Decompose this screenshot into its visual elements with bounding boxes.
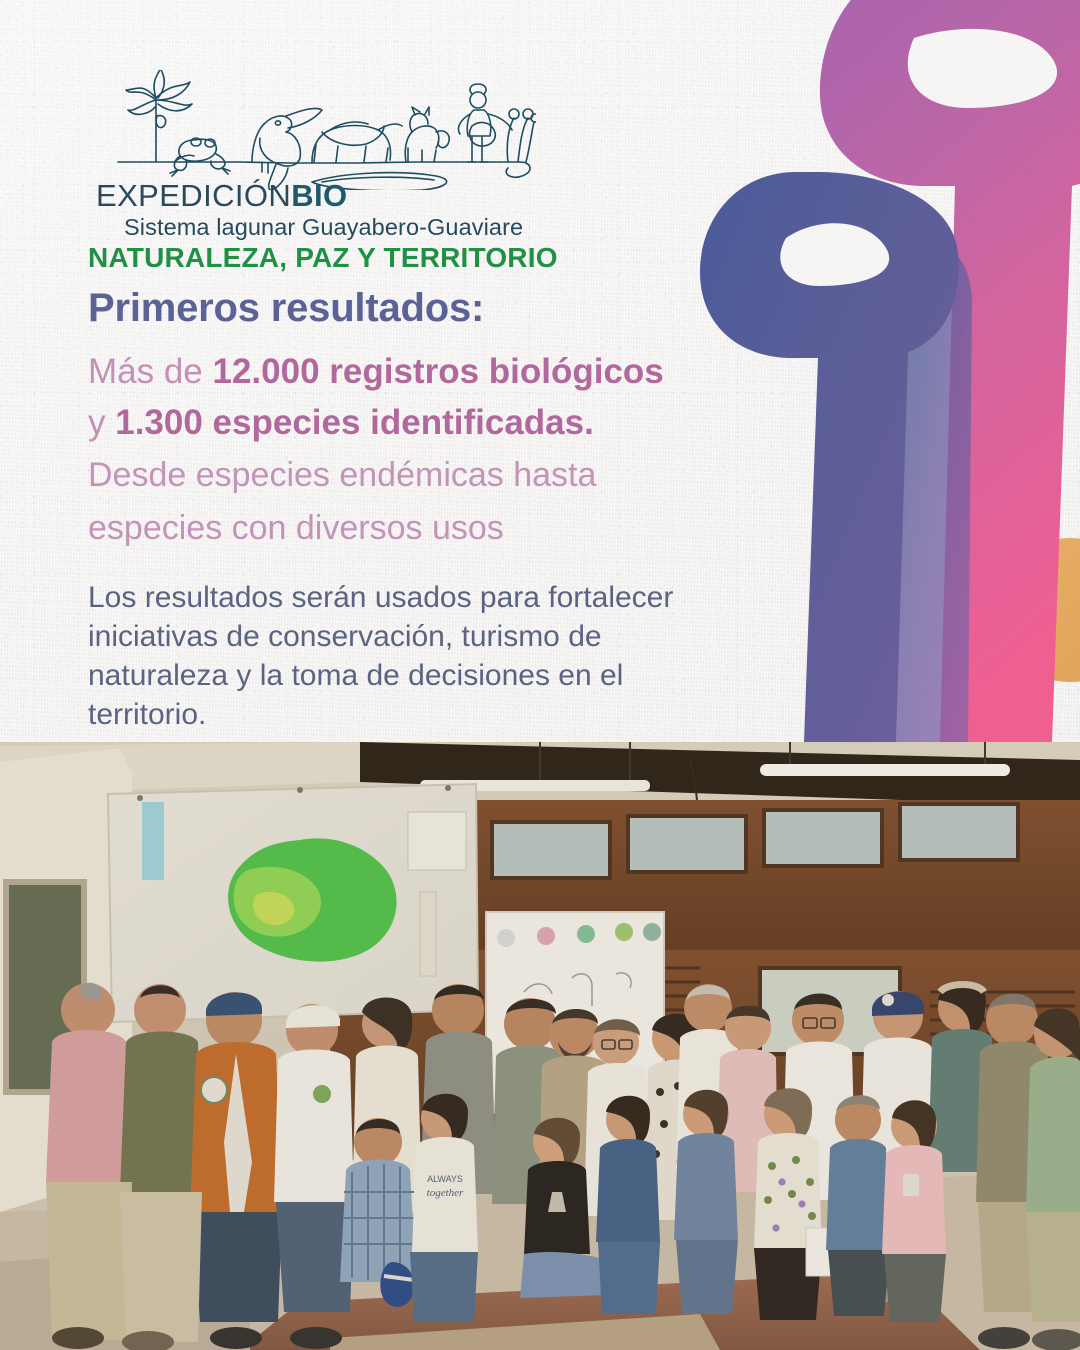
stat-1-prefix: Más de [88,352,213,391]
logo-word-bio: BIO [291,178,347,213]
headline: Primeros resultados: [88,286,708,331]
logo-tagline: NATURALEZA, PAZ Y TERRITORIO [88,242,558,274]
logo-wordmark: EXPEDICIÓNBIO [96,178,348,214]
stat-2-prefix: y [88,403,115,442]
group-photo-illustration: ALWAYS together [0,742,1080,1350]
logo-word-expedicion: EXPEDICIÓN [96,178,291,213]
decorative-abstract-shapes [700,0,1080,742]
expedicionbio-logo: EXPEDICIÓNBIO Sistema lagunar Guayabero-… [88,70,608,190]
stat-line-3: Desde especies endémicas hasta [88,450,708,501]
logo-line-illustration [116,70,536,190]
stat-2-value: 1.300 especies identificadas. [115,403,594,442]
logo-subtitle: Sistema lagunar Guayabero-Guaviare [124,214,523,241]
stat-1-value: 12.000 registros biológicos [213,352,664,391]
stat-line-4: especies con diversos usos [88,503,708,554]
group-photo: ALWAYS together [0,742,1080,1350]
body-paragraph: Los resultados serán usados para fortale… [88,578,708,734]
stat-line-1: Más de 12.000 registros biológicos [88,347,708,398]
stat-line-2: y 1.300 especies identificadas. [88,398,708,449]
copy-block: Primeros resultados: Más de 12.000 regis… [88,286,708,734]
poster-root: EXPEDICIÓNBIO Sistema lagunar Guayabero-… [0,0,1080,1350]
top-content-panel: EXPEDICIÓNBIO Sistema lagunar Guayabero-… [0,0,1080,742]
